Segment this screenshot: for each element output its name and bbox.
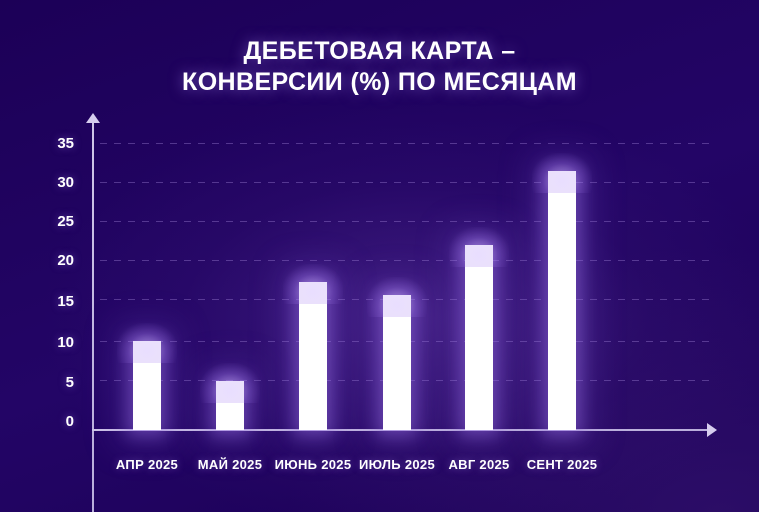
x-tick-label-sep-2025: СЕНТ 2025 <box>502 457 622 472</box>
plot-area: 35 30 25 20 15 10 5 0 АПР 2025 МАЙ 2025 … <box>0 0 759 512</box>
bar-group-4 <box>465 120 493 430</box>
y-tick-label-15: 15 <box>26 293 74 310</box>
bar-group-2 <box>299 120 327 430</box>
y-axis-arrow-icon <box>86 113 100 123</box>
bar-sep-2025[interactable] <box>548 171 576 431</box>
bar-may-2025[interactable] <box>216 381 244 430</box>
bar-group-3 <box>383 120 411 430</box>
bar-jul-2025[interactable] <box>383 295 411 430</box>
y-tick-label-0: 0 <box>26 413 74 430</box>
y-tick-label-20: 20 <box>26 252 74 269</box>
y-tick-label-10: 10 <box>26 334 74 351</box>
bar-group-5 <box>548 120 576 430</box>
bar-jun-2025[interactable] <box>299 282 327 430</box>
x-axis-arrow-icon <box>707 423 717 437</box>
bar-group-1 <box>216 120 244 430</box>
bar-apr-2025[interactable] <box>133 341 161 430</box>
y-tick-label-30: 30 <box>26 174 74 191</box>
bar-group-0 <box>133 120 161 430</box>
chart-canvas: ДЕБЕТОВАЯ КАРТА – КОНВЕРСИИ (%) ПО МЕСЯЦ… <box>0 0 759 512</box>
bar-aug-2025[interactable] <box>465 245 493 430</box>
y-axis-line <box>92 120 94 512</box>
y-tick-label-35: 35 <box>26 135 74 152</box>
y-tick-label-5: 5 <box>26 374 74 391</box>
y-tick-label-25: 25 <box>26 213 74 230</box>
